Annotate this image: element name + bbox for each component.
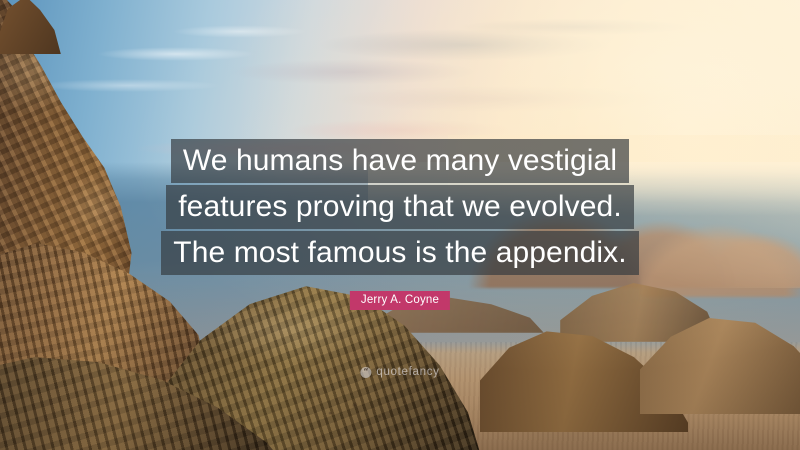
- author-name-badge: Jerry A. Coyne: [350, 291, 450, 310]
- quote-mark-icon: “: [360, 367, 371, 378]
- quote-image: We humans have many vestigial features p…: [0, 0, 800, 450]
- quote-line-1: We humans have many vestigial: [171, 139, 629, 183]
- quote-text-block: We humans have many vestigial features p…: [0, 139, 800, 275]
- quotefancy-watermark[interactable]: “ quotefancy: [360, 366, 439, 378]
- quote-line-2: features proving that we evolved.: [166, 185, 634, 229]
- watermark-label: quotefancy: [376, 366, 439, 378]
- quote-line-3: The most famous is the appendix.: [161, 231, 638, 275]
